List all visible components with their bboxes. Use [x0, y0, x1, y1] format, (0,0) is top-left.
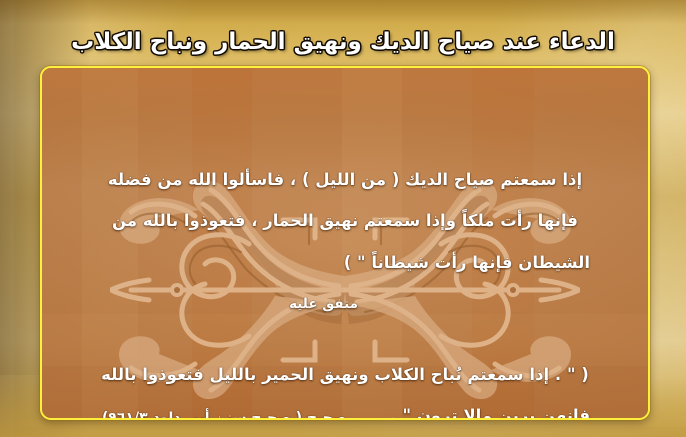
hadith-one-line-1: إذا سمعتم صياح الديك ( من الليل ) ، فاسأ… [42, 170, 648, 189]
hadith-one-line-2: فإنها رأت ملكاً وإذا سمعتم نهيق الحمار ،… [42, 211, 648, 230]
frame-top-shade [0, 0, 686, 24]
hadith-two-line-2: فإنهن يرين مالا ترون " . [390, 406, 590, 420]
hadith-one-source: متفق عليه [289, 296, 358, 312]
poster-title: الدعاء عند صياح الديك ونهيق الحمار ونباح… [0, 24, 686, 60]
poster-canvas: الدعاء عند صياح الديك ونهيق الحمار ونباح… [0, 0, 686, 437]
hadith-one-line-3: الشيطان فإنها رأت شيطاناً " ) [344, 253, 590, 272]
hadith-two-source: صحيح ( صحيح سنن أبي داود ٩٦١/٣) [102, 410, 346, 420]
content-panel: إذا سمعتم صياح الديك ( من الليل ) ، فاسأ… [40, 66, 650, 420]
hadith-two-line-1: ( " . إذا سمعتم نُباح الكلاب ونهيق الحمي… [42, 365, 648, 384]
